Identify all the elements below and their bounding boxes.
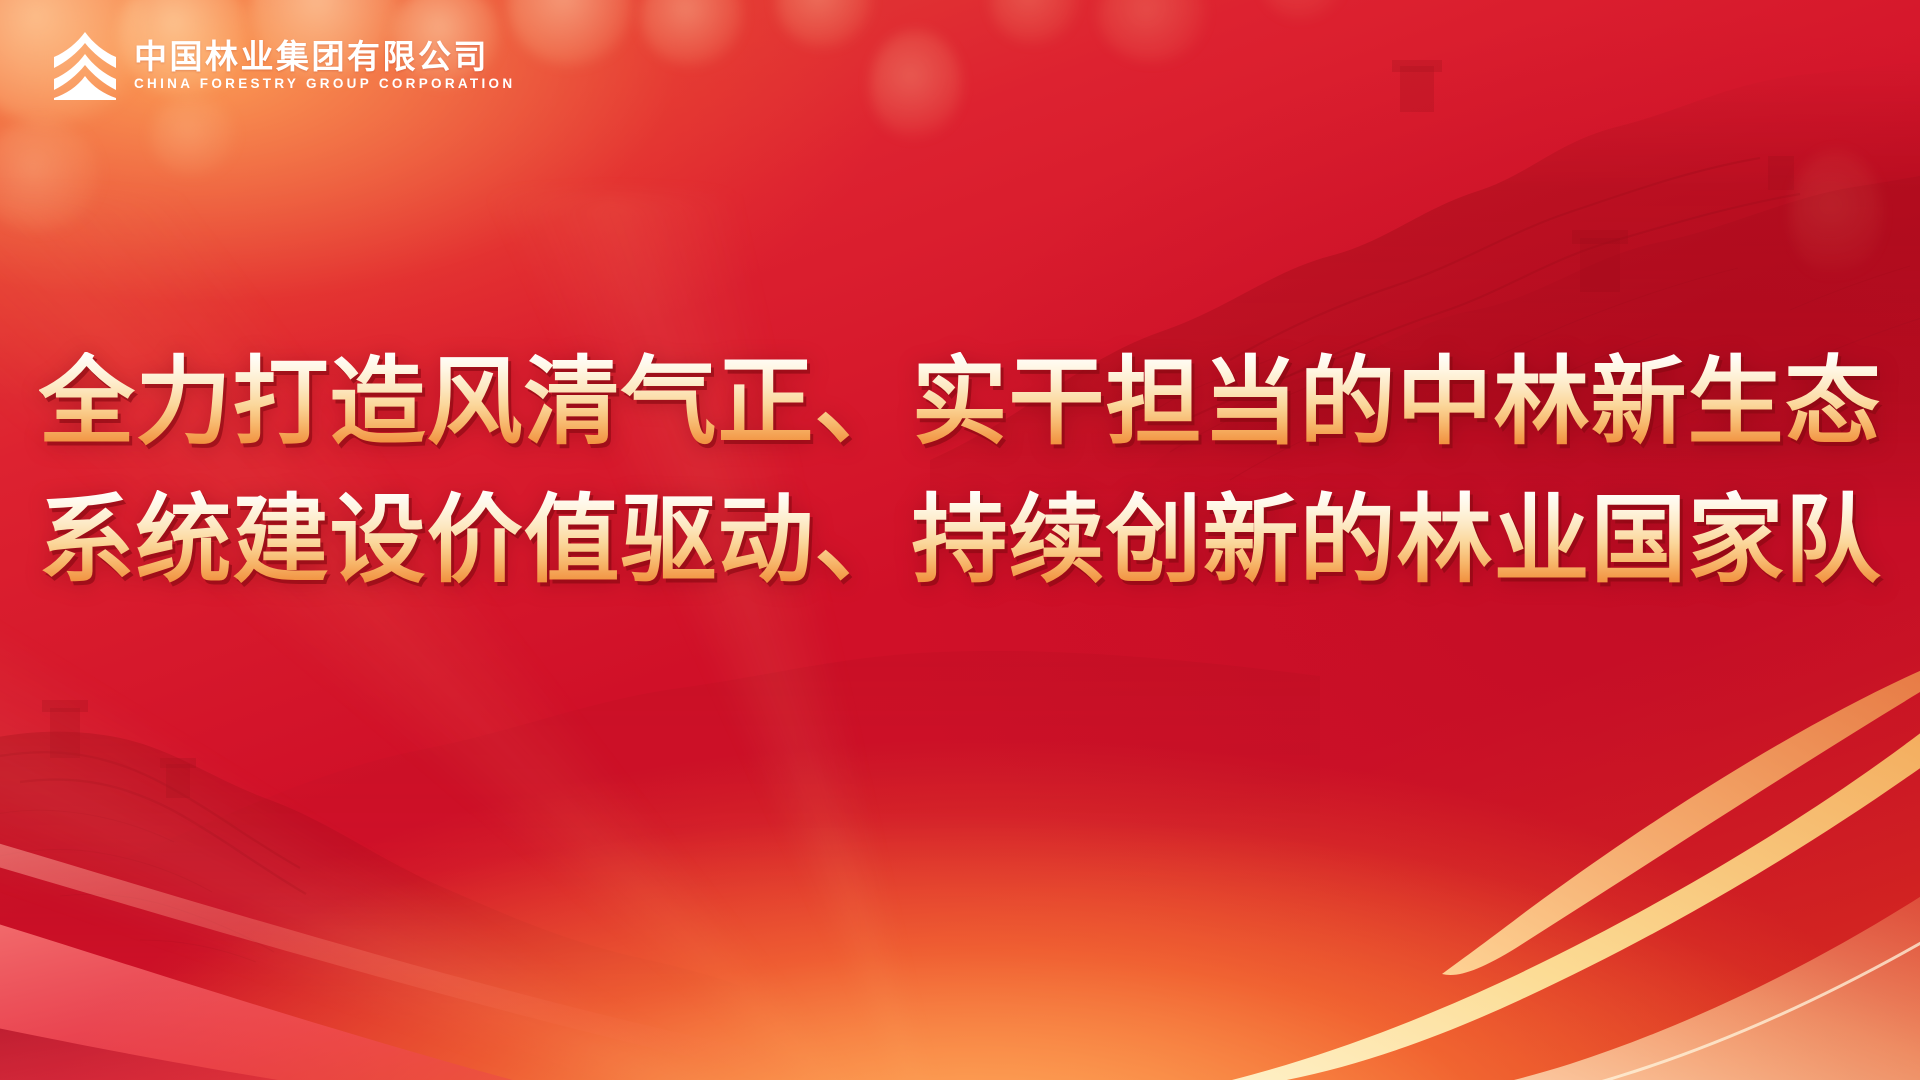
brand-name-cn: 中国林业集团有限公司 bbox=[134, 40, 515, 73]
forestry-tree-mark-icon bbox=[52, 30, 118, 100]
red-silk-ribbon bbox=[0, 730, 960, 1080]
gold-swoosh-ribbon bbox=[880, 670, 1920, 1080]
headline-block: 全力打造风清气正、实干担当的中林新生态 系统建设价值驱动、持续创新的林业国家队 bbox=[0, 352, 1920, 592]
headline-line-1: 全力打造风清气正、实干担当的中林新生态 bbox=[39, 352, 1882, 454]
bottom-warm-glow bbox=[0, 660, 1920, 1080]
light-rays bbox=[0, 194, 1920, 1080]
great-wall-watermark-left bbox=[0, 690, 740, 1020]
brand-name-en: CHINA FORESTRY GROUP CORPORATION bbox=[134, 77, 515, 91]
poster-banner: 中国林业集团有限公司 CHINA FORESTRY GROUP CORPORAT… bbox=[0, 0, 1920, 1080]
headline-line-2: 系统建设价值驱动、持续创新的林业国家队 bbox=[39, 490, 1882, 592]
brand-logo[interactable]: 中国林业集团有限公司 CHINA FORESTRY GROUP CORPORAT… bbox=[52, 30, 515, 100]
brand-logo-text: 中国林业集团有限公司 CHINA FORESTRY GROUP CORPORAT… bbox=[134, 40, 515, 91]
mountain-haze-watermark bbox=[120, 560, 1320, 900]
